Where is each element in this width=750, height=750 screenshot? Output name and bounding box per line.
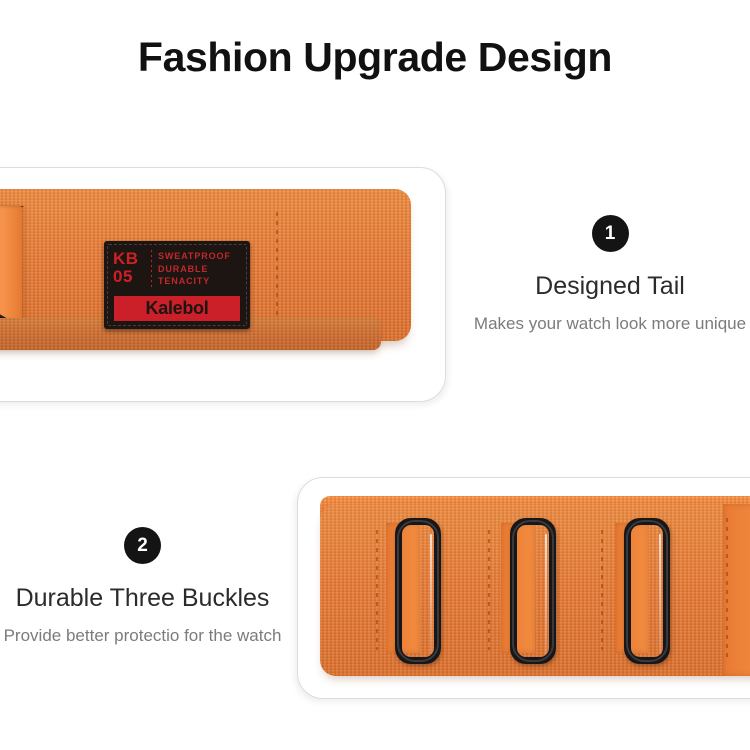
tag-dotted-divider: [151, 250, 152, 288]
tag-claim-line: TENACITY: [158, 275, 231, 288]
buckle-ring-2: [510, 518, 556, 664]
tag-claim-line: DURABLE: [158, 263, 231, 276]
photo-panel-three-buckles: [297, 477, 750, 699]
feature-title-1: Designed Tail: [470, 271, 750, 301]
feature-badge-2: 2: [124, 527, 161, 564]
page-title: Fashion Upgrade Design: [0, 31, 750, 83]
stitch-seam: [376, 530, 378, 650]
feature-block-designed-tail: 1 Designed Tail Makes your watch look mo…: [470, 215, 750, 336]
stitch-seam: [726, 518, 728, 662]
feature-badge-1: 1: [592, 215, 629, 252]
feature-title-2: Durable Three Buckles: [0, 583, 285, 613]
tag-brand-name: Kalebol: [146, 298, 209, 319]
tag-model-code: KB 05: [113, 250, 149, 286]
stitch-seam: [601, 530, 603, 650]
tag-brand-bar: Kalebol: [114, 296, 240, 321]
buckle-gloss: [545, 534, 547, 654]
buckle-gloss: [430, 534, 432, 654]
tag-model-letters: KB: [113, 250, 149, 268]
tag-claim-line: SWEATPROOF: [158, 250, 231, 263]
brand-label-tag: KB 05 SWEATPROOF DURABLE TENACITY Kalebo…: [104, 241, 250, 329]
stitch-seam: [276, 212, 278, 324]
feature-description-1: Makes your watch look more unique: [470, 311, 750, 336]
tag-model-number: 05: [113, 268, 149, 286]
tag-claims: SWEATPROOF DURABLE TENACITY: [158, 250, 231, 288]
feature-block-three-buckles: 2 Durable Three Buckles Provide better p…: [0, 527, 285, 648]
stitch-seam: [488, 530, 490, 650]
feature-description-2: Provide better protectio for the watch: [0, 623, 285, 648]
buckle-ring-1: [395, 518, 441, 664]
keeper-loop: [0, 206, 22, 328]
buckle-gloss: [659, 534, 661, 654]
buckle-ring-3: [624, 518, 670, 664]
